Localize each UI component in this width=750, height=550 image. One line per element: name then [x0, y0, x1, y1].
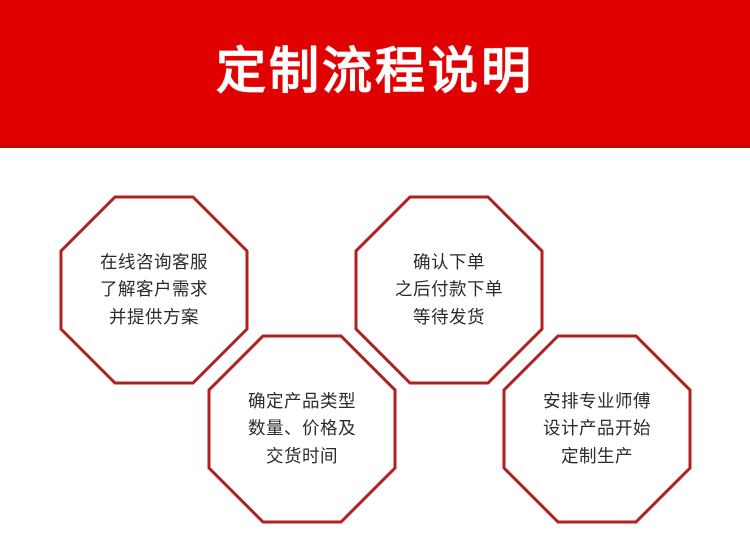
header-banner: 定制流程说明	[0, 0, 750, 148]
flow-step-define-product: 确定产品类型 数量、价格及 交货时间	[208, 335, 396, 523]
flow-step-label: 安排专业师傅 设计产品开始 定制生产	[543, 388, 651, 471]
flow-step-production: 安排专业师傅 设计产品开始 定制生产	[503, 335, 691, 523]
page-title: 定制流程说明	[216, 46, 534, 96]
customization-process-page: 定制流程说明 在线咨询客服 了解客户需求 并提供方案 确认下单 之后付款下单 等…	[0, 0, 750, 550]
flow-step-label: 确定产品类型 数量、价格及 交货时间	[248, 388, 356, 471]
flow-step-label: 在线咨询客服 了解客户需求 并提供方案	[100, 249, 208, 332]
process-flow-diagram: 在线咨询客服 了解客户需求 并提供方案 确认下单 之后付款下单 等待发货 确定产…	[0, 151, 750, 550]
flow-step-label: 确认下单 之后付款下单 等待发货	[395, 249, 503, 332]
